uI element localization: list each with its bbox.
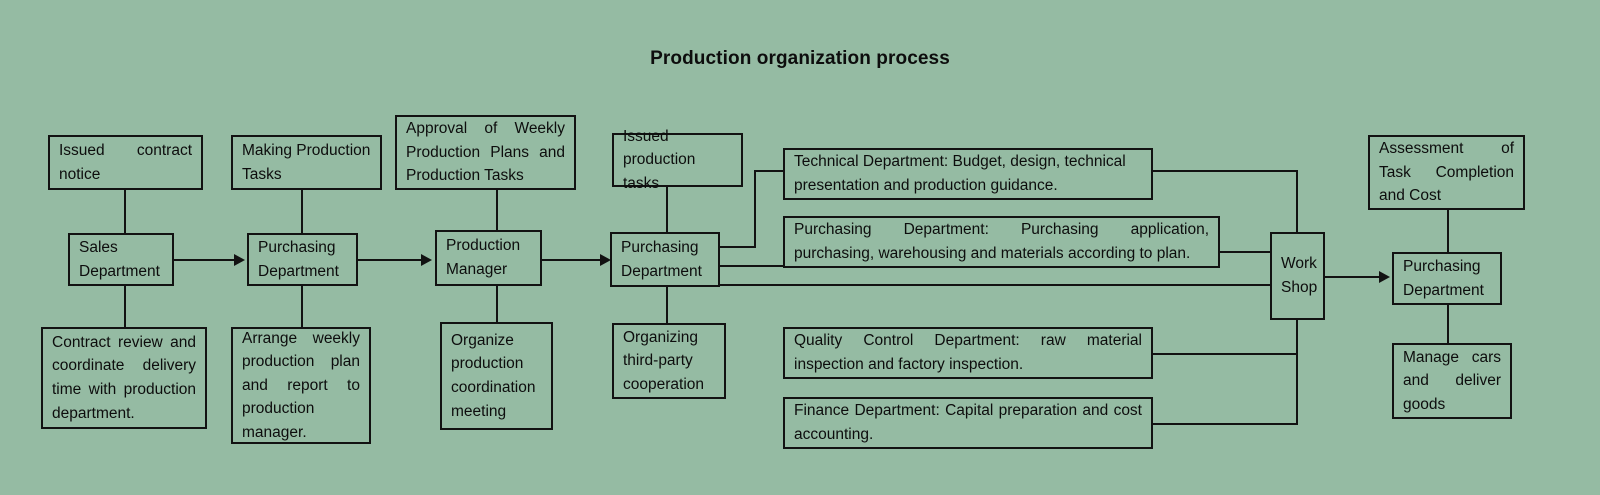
- connector-purchasingdesc-to-workshop: [1220, 251, 1270, 253]
- connector-manager-to-purchasing4: [542, 259, 606, 261]
- connector-technical-to-riser: [1153, 170, 1298, 172]
- arrowhead-workshop-to-final: [1379, 271, 1390, 283]
- node-work-shop: Work Shop: [1270, 232, 1325, 320]
- node-organizing-third-party: Organizing third-party cooperation: [612, 323, 726, 399]
- node-quality-control-department: Quality Control Department: raw material…: [783, 327, 1153, 379]
- connector-purchasing4-to-purchasing-desc: [718, 265, 785, 267]
- connector-notice-to-sales: [124, 190, 126, 233]
- page-title: Production organization process: [0, 48, 1600, 70]
- node-technical-department: Technical Department: Budget, design, te…: [783, 148, 1153, 200]
- connector-finance-to-riser: [1153, 423, 1298, 425]
- connector-riser-technical-down: [1296, 170, 1298, 233]
- connector-purchasing4-riser-technical: [754, 170, 756, 248]
- connector-final-to-manage-cars: [1447, 305, 1449, 343]
- connector-purchasing-to-arrange: [301, 286, 303, 327]
- arrowhead-purchasing-to-manager: [421, 254, 432, 266]
- node-sales-department: Sales Department: [68, 233, 174, 286]
- node-approval-weekly-plans: Approval of Weekly Production Plans and …: [395, 115, 576, 190]
- node-assessment-task-completion: Assessment of Task Completion and Cost: [1368, 135, 1525, 210]
- connector-quality-to-riser: [1153, 353, 1298, 355]
- arrowhead-sales-to-purchasing: [234, 254, 245, 266]
- node-making-production-tasks: Making Production Tasks: [231, 135, 382, 190]
- node-manage-cars-deliver: Manage cars and deliver goods: [1392, 343, 1512, 419]
- diagram-canvas: Production organization process Issued c…: [0, 0, 1600, 495]
- node-contract-review: Contract review and coordinate delivery …: [41, 327, 207, 429]
- connector-riser-to-technical: [754, 170, 785, 172]
- connector-purchasing4-stub-upper: [718, 246, 756, 248]
- connector-assessment-to-final: [1447, 210, 1449, 252]
- node-production-manager: Production Manager: [435, 230, 542, 286]
- connector-sales-to-review: [124, 286, 126, 327]
- connector-riser-quality-finance-up: [1296, 320, 1298, 425]
- connector-approval-to-manager: [496, 190, 498, 233]
- node-arrange-weekly-plan: Arrange weekly production plan and repor…: [231, 327, 371, 444]
- connector-manager-to-meeting: [496, 286, 498, 322]
- node-finance-department: Finance Department: Capital preparation …: [783, 397, 1153, 449]
- node-purchasing-department-final: Purchasing Department: [1392, 252, 1502, 305]
- node-purchasing-department-2: Purchasing Department: [247, 233, 358, 286]
- connector-purchasing-to-manager: [358, 259, 423, 261]
- connector-workshop-to-final: [1325, 276, 1383, 278]
- node-issued-contract-notice: Issued contract notice: [48, 135, 203, 190]
- connector-purchasing4-to-thirdparty: [666, 287, 668, 323]
- connector-purchasing4-to-workshop: [718, 284, 1276, 286]
- node-organize-coordination-meeting: Organize production coordination meeting: [440, 322, 553, 430]
- node-issued-production-tasks: Issued production tasks: [612, 133, 743, 187]
- node-purchasing-department-desc: Purchasing Department: Purchasing applic…: [783, 216, 1220, 268]
- arrowhead-manager-to-purchasing4: [600, 254, 611, 266]
- node-purchasing-department-4: Purchasing Department: [610, 232, 720, 287]
- connector-sales-to-purchasing: [174, 259, 236, 261]
- connector-making-to-purchasing: [301, 190, 303, 233]
